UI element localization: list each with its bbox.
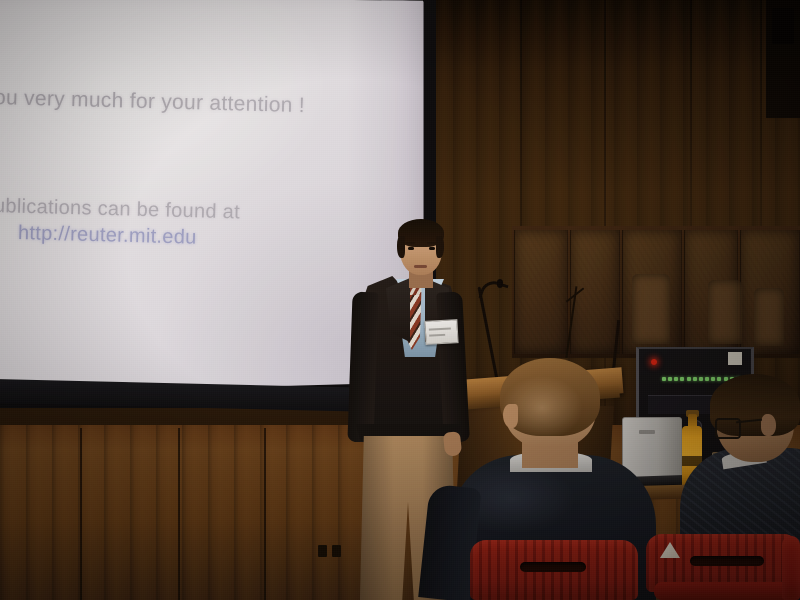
badge-text-line: [429, 328, 451, 331]
carved-figure: [754, 288, 784, 346]
name-badge: [424, 319, 458, 345]
wall-seam: [690, 0, 692, 230]
badge-text-line: [429, 334, 445, 337]
chair-handle-slot: [690, 556, 764, 566]
laptop-logo-icon: [639, 430, 655, 434]
wall-seam: [760, 0, 762, 230]
rack-label-sticker: [728, 352, 742, 365]
wall-outlet: [318, 545, 327, 557]
ceiling-vent: [772, 8, 794, 44]
carved-panel-tile: [514, 230, 568, 354]
speaker-eye-right: [429, 247, 435, 250]
audience-member-right-ear: [761, 414, 776, 436]
speaker-eyebrow-left: [406, 242, 415, 244]
carved-figure: [708, 280, 742, 344]
wall-outlet: [332, 545, 341, 557]
slide-line-url: http://reuter.mit.edu: [18, 222, 197, 250]
wall-panel-line: [80, 428, 82, 600]
speaker-eyebrow-right: [427, 242, 436, 244]
carved-wall-relief-panels: [512, 226, 800, 358]
auditorium-chair-seat[interactable]: [654, 582, 800, 600]
speaker-arm-left: [347, 292, 378, 443]
wall-panel-line: [178, 428, 180, 600]
power-led-icon: [651, 359, 657, 365]
chair-handle-slot: [520, 562, 586, 572]
speaker-hand: [443, 431, 462, 457]
speaker-eye-left: [408, 247, 414, 250]
auditorium-chair[interactable]: [782, 536, 800, 600]
speaker-mouth: [414, 265, 427, 268]
microphone-head: [497, 279, 503, 288]
speaker-hair-side-left: [397, 236, 405, 258]
wall-seam: [604, 0, 606, 430]
wall-panel-line: [264, 428, 266, 600]
carved-figure: [632, 274, 670, 344]
photograph-scene: ou very much for your attention ! ublica…: [0, 0, 800, 600]
speaker-hair-side-right: [436, 236, 444, 258]
audience-member-front-ear: [503, 404, 518, 428]
